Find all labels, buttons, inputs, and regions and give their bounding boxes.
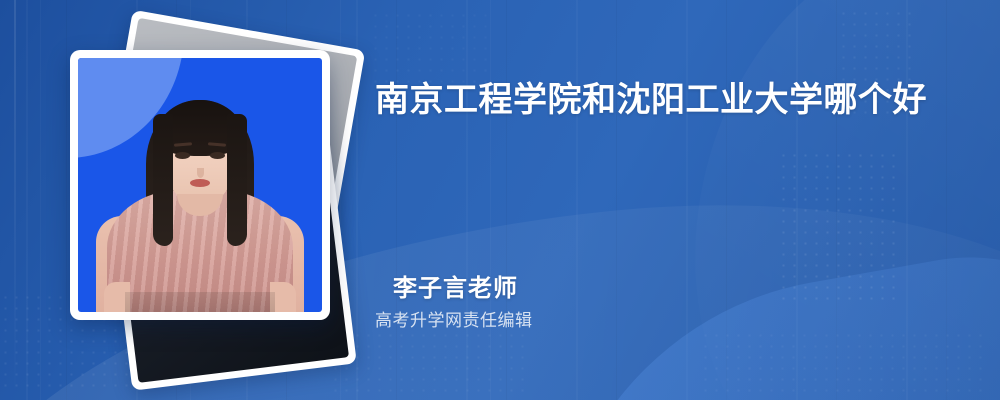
author-photo-card	[70, 50, 330, 320]
portrait-waistband	[125, 292, 275, 312]
portrait-eye-left	[175, 152, 190, 159]
author-name: 李子言老师	[375, 272, 533, 306]
portrait-illustration	[78, 58, 322, 312]
portrait-hair-side-left	[153, 114, 173, 246]
author-photo	[78, 58, 322, 312]
author-block: 李子言老师 高考升学网责任编辑	[375, 272, 533, 336]
author-role: 高考升学网责任编辑	[375, 306, 533, 336]
article-banner: 南京工程学院和沈阳工业大学哪个好 李子言老师 高考升学网责任编辑	[0, 0, 1000, 400]
article-text-column: 南京工程学院和沈阳工业大学哪个好 李子言老师 高考升学网责任编辑	[375, 0, 975, 400]
portrait-hair-side-right	[227, 114, 247, 246]
article-title: 南京工程学院和沈阳工业大学哪个好	[375, 72, 955, 128]
portrait-mouth	[190, 179, 210, 187]
portrait-eye-right	[210, 152, 225, 159]
author-photo-stack	[48, 28, 348, 368]
